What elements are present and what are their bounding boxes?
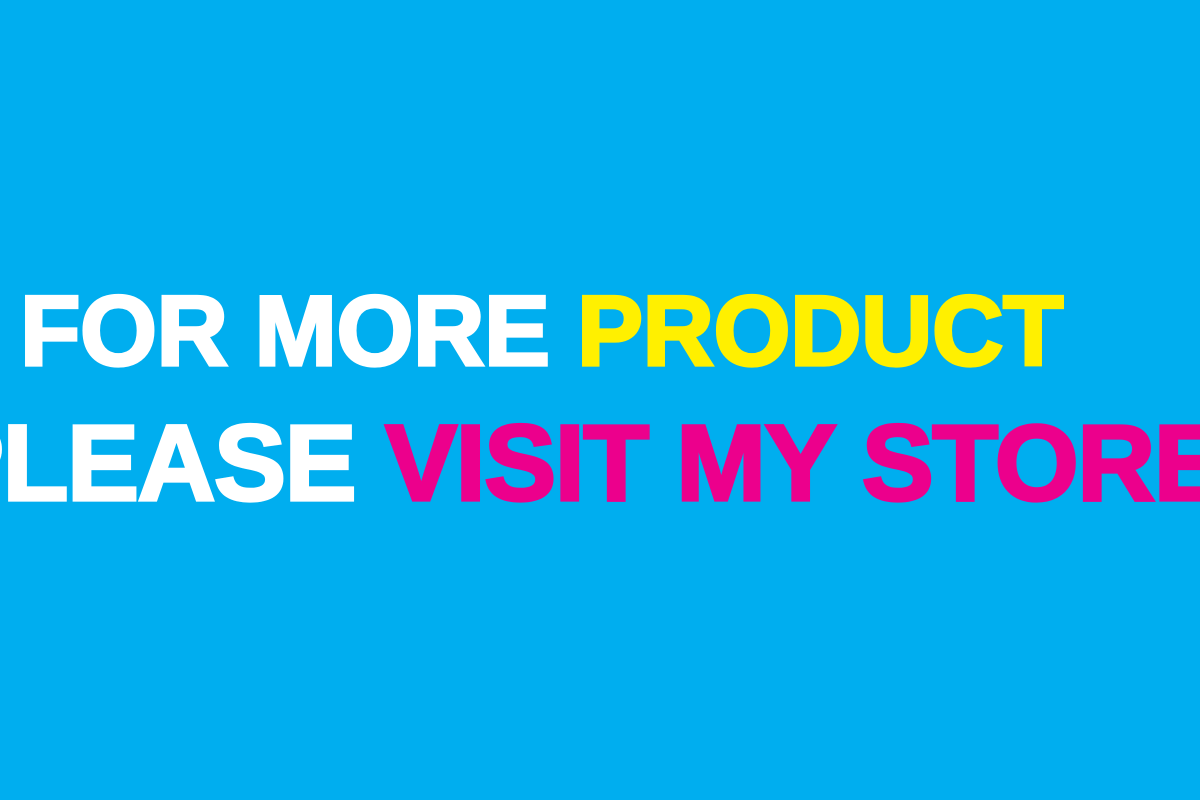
headline-space-1 [549, 275, 577, 386]
promo-banner: FOR MORE PRODUCT PLEASE VISIT MY STORE [0, 0, 1200, 800]
headline-text-please: PLEASE [0, 402, 355, 523]
headline-line-1: FOR MORE PRODUCT [20, 281, 1063, 380]
headline-line-2: PLEASE VISIT MY STORE [0, 409, 1200, 517]
headline-text-for-more: FOR MORE [20, 275, 549, 386]
headline-text-visit-my-store: VISIT MY STORE [385, 402, 1200, 523]
headline-space-2 [355, 402, 385, 523]
headline-block: FOR MORE PRODUCT PLEASE VISIT MY STORE [0, 0, 1200, 800]
headline-text-product: PRODUCT [577, 275, 1063, 386]
